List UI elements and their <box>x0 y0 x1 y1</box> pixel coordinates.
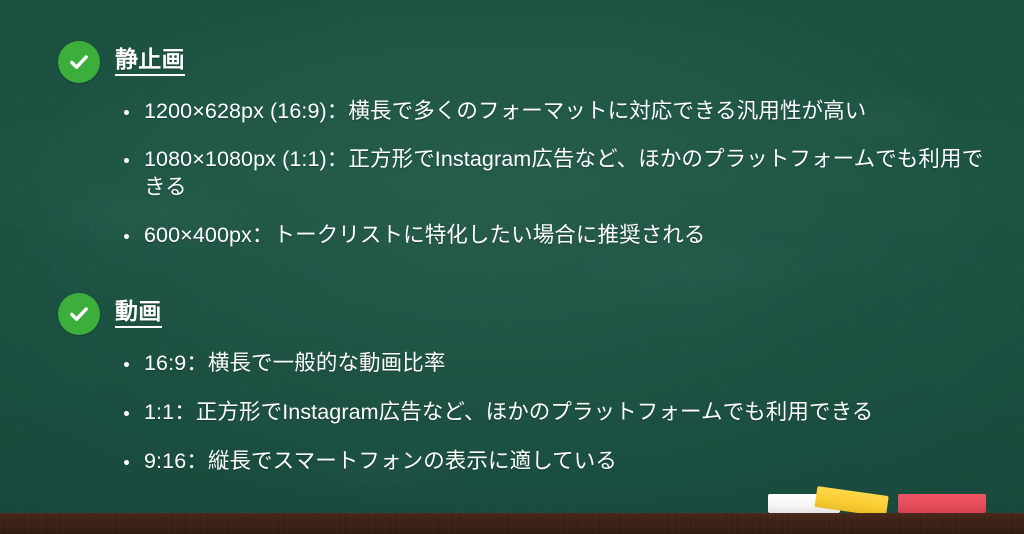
check-circle-icon <box>58 41 100 83</box>
bullet-dot-icon <box>124 460 129 465</box>
check-circle-icon <box>58 293 100 335</box>
wood-grain-texture <box>0 513 1024 534</box>
chalkboard-slide: 静止画 1200×628px (16:9)：横長で多くのフォーマットに対応できる… <box>0 0 1024 534</box>
slide-content: 静止画 1200×628px (16:9)：横長で多くのフォーマットに対応できる… <box>0 0 1024 513</box>
list-item: 1080×1080px (1:1)：正方形でInstagram広告など、ほかのプ… <box>122 146 998 202</box>
list-item: 1200×628px (16:9)：横長で多くのフォーマットに対応できる汎用性が… <box>122 98 998 126</box>
chalk-ledge <box>0 513 1024 534</box>
list-item-text: 1:1：正方形でInstagram広告など、ほかのプラットフォームでも利用できる <box>144 400 873 424</box>
bullet-dot-icon <box>124 411 129 416</box>
bullet-dot-icon <box>124 234 129 239</box>
section-video: 動画 16:9：横長で一般的な動画比率 1:1：正方形でInstagram広告な… <box>58 292 998 497</box>
list-item: 16:9：横長で一般的な動画比率 <box>122 350 998 378</box>
list-item: 600×400px：トークリストに特化したい場合に推奨される <box>122 222 998 250</box>
section-title: 動画 <box>115 300 162 328</box>
list-item-text: 1080×1080px (1:1)：正方形でInstagram広告など、ほかのプ… <box>144 147 983 199</box>
list-item: 9:16：縦長でスマートフォンの表示に適している <box>122 448 998 476</box>
red-chalk <box>898 494 986 513</box>
list-item-text: 9:16：縦長でスマートフォンの表示に適している <box>144 449 617 473</box>
list-item-text: 1200×628px (16:9)：横長で多くのフォーマットに対応できる汎用性が… <box>144 99 866 123</box>
list-item-text: 16:9：横長で一般的な動画比率 <box>144 351 445 375</box>
section-header: 動画 <box>58 292 998 336</box>
list-item: 1:1：正方形でInstagram広告など、ほかのプラットフォームでも利用できる <box>122 399 998 427</box>
bullet-list: 1200×628px (16:9)：横長で多くのフォーマットに対応できる汎用性が… <box>122 98 998 250</box>
bullet-list: 16:9：横長で一般的な動画比率 1:1：正方形でInstagram広告など、ほ… <box>122 350 998 476</box>
section-title: 静止画 <box>115 48 185 76</box>
list-item-text: 600×400px：トークリストに特化したい場合に推奨される <box>144 223 706 247</box>
bullet-dot-icon <box>124 158 129 163</box>
bullet-dot-icon <box>124 362 129 367</box>
section-header: 静止画 <box>58 40 998 84</box>
section-static-image: 静止画 1200×628px (16:9)：横長で多くのフォーマットに対応できる… <box>58 40 998 270</box>
bullet-dot-icon <box>124 110 129 115</box>
